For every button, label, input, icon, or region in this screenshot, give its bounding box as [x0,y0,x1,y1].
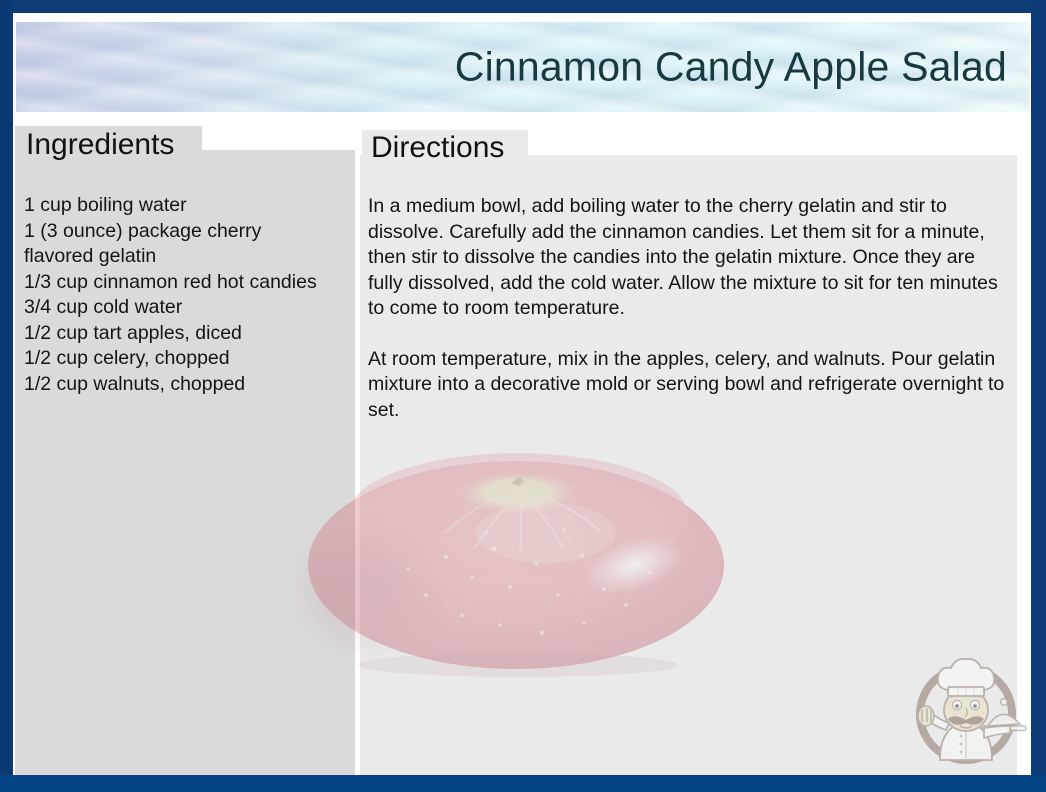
ingredients-heading-tab: Ingredients [15,126,202,168]
list-item: 1/3 cup cinnamon red hot candies [24,270,354,296]
directions-heading: Directions [371,131,504,165]
ingredients-list: 1 cup boiling water 1 (3 ounce) package … [24,193,354,397]
list-item: 3/4 cup cold water [24,295,354,321]
card-border-left [0,0,13,792]
card-border-top [0,0,1046,13]
list-item: 1 cup boiling water [24,193,354,219]
directions-paragraph: At room temperature, mix in the apples, … [368,347,1013,424]
list-item: 1/2 cup walnuts, chopped [24,372,354,398]
directions-text: In a medium bowl, add boiling water to t… [368,194,1013,423]
list-item: 1/2 cup tart apples, diced [24,321,354,347]
recipe-card: Cinnamon Candy Apple Salad Ingredients 1… [0,0,1046,792]
title-banner: Cinnamon Candy Apple Salad [16,22,1029,112]
card-border-bottom [0,775,1046,792]
ingredients-heading: Ingredients [26,128,174,162]
list-item: 1/2 cup celery, chopped [24,346,354,372]
list-item: flavored gelatin [24,244,354,270]
list-item: 1 (3 ounce) package cherry [24,219,354,245]
directions-heading-tab: Directions [362,130,528,170]
directions-paragraph: In a medium bowl, add boiling water to t… [368,194,1013,322]
page-title: Cinnamon Candy Apple Salad [455,44,1007,91]
card-border-right [1031,0,1046,792]
